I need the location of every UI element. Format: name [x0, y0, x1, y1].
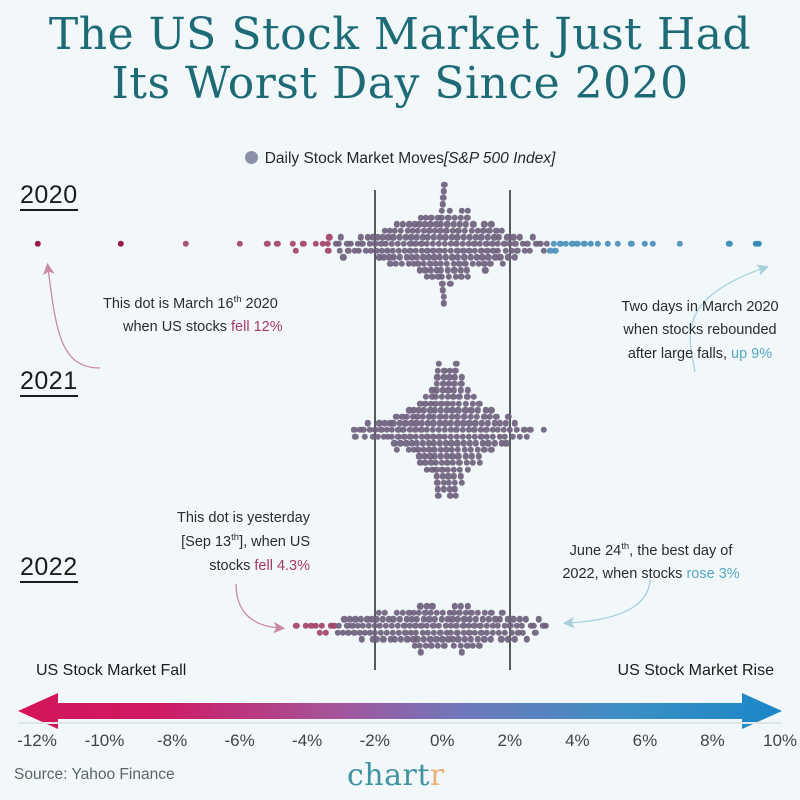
data-point: [523, 616, 529, 622]
data-point: [726, 241, 732, 247]
data-point: [497, 254, 503, 260]
data-point: [510, 616, 516, 622]
data-point: [312, 241, 318, 247]
anno-june24-line1-post: , the best day of: [629, 543, 732, 559]
page-title: The US Stock Market Just Had Its Worst D…: [0, 10, 800, 109]
data-point: [524, 636, 530, 642]
data-point: [469, 400, 475, 406]
axis-tick-minus8pct: -8%: [157, 731, 187, 751]
infographic-root: The US Stock Market Just Had Its Worst D…: [0, 0, 800, 800]
data-point: [274, 241, 280, 247]
data-point: [361, 433, 367, 439]
data-point: [513, 427, 519, 433]
data-point: [465, 208, 471, 214]
data-point: [352, 433, 358, 439]
data-point: [493, 414, 499, 420]
data-point: [581, 241, 587, 247]
data-point: [438, 267, 444, 273]
data-point: [464, 274, 470, 280]
axis-tick-minus12pct: -12%: [17, 731, 57, 751]
data-point: [469, 643, 475, 649]
data-point: [388, 427, 394, 433]
data-point: [390, 420, 396, 426]
data-point: [454, 414, 460, 420]
data-point: [452, 486, 458, 492]
legend-label: Daily Stock Market Moves: [265, 150, 444, 167]
data-point: [478, 234, 484, 240]
data-point: [446, 274, 452, 280]
chartr-logo-accent: r: [430, 758, 445, 793]
anno-march16-line1-pre: This dot is March 16: [103, 296, 234, 312]
data-point: [451, 473, 457, 479]
data-point: [463, 267, 469, 273]
data-point: [481, 447, 487, 453]
data-point: [510, 234, 516, 240]
data-point: [486, 414, 492, 420]
data-point: [476, 643, 482, 649]
data-point: [532, 629, 538, 635]
data-point: [435, 493, 441, 499]
data-point: [338, 234, 344, 240]
legend-index-note: [S&P 500 Index]: [444, 150, 555, 167]
data-point: [497, 616, 503, 622]
data-point: [439, 280, 445, 286]
anno-june24-line2-pre: 2022, when stocks: [562, 566, 686, 582]
axis-tick-labels: -12%-10%-8%-6%-4%-2%0%2%4%6%8%10%: [0, 731, 800, 757]
data-point: [509, 433, 515, 439]
data-point: [615, 241, 621, 247]
data-point: [456, 400, 462, 406]
data-point: [552, 247, 558, 253]
data-point: [458, 603, 464, 609]
data-point: [594, 241, 600, 247]
data-point: [439, 208, 445, 214]
data-point: [359, 636, 365, 642]
data-point: [512, 254, 518, 260]
data-point: [398, 228, 404, 234]
data-point: [488, 610, 494, 616]
data-point: [382, 610, 388, 616]
data-point: [461, 254, 467, 260]
data-point: [414, 636, 420, 642]
data-point: [485, 420, 491, 426]
data-point: [468, 447, 474, 453]
anno-yesterday-line1: This dot is yesterday: [150, 507, 310, 530]
data-point: [415, 610, 421, 616]
data-point: [464, 603, 470, 609]
data-point: [477, 460, 483, 466]
anno-march16-highlight: fell 12%: [231, 319, 283, 335]
anno-march16-line1-post: 2020: [242, 296, 278, 312]
data-point: [438, 214, 444, 220]
data-point: [451, 381, 457, 387]
axis-tick-minus2pct: -2%: [360, 731, 390, 751]
beeswarm-plot: [0, 170, 800, 690]
data-point: [650, 241, 656, 247]
data-point: [441, 643, 447, 649]
data-point: [453, 361, 459, 367]
data-point: [483, 427, 489, 433]
data-point: [336, 241, 342, 247]
data-point: [512, 636, 518, 642]
data-point: [453, 493, 459, 499]
data-point: [542, 623, 548, 629]
data-point: [455, 407, 461, 413]
data-point: [435, 361, 441, 367]
data-point: [494, 241, 500, 247]
data-point: [34, 241, 40, 247]
data-point: [461, 228, 467, 234]
data-point: [462, 261, 468, 267]
data-point: [488, 221, 494, 227]
data-point: [473, 440, 479, 446]
axis-tick-8pct: 8%: [700, 731, 725, 751]
data-point: [293, 623, 299, 629]
anno-rebound-line2: when stocks rebounded: [600, 319, 800, 342]
data-point: [487, 261, 493, 267]
data-point: [499, 610, 505, 616]
data-point: [459, 480, 465, 486]
data-point: [443, 228, 449, 234]
data-point: [326, 234, 332, 240]
axis-gradient-arrow: [0, 690, 800, 732]
data-point: [540, 247, 546, 253]
data-point: [499, 228, 505, 234]
anno-yesterday-highlight: fell 4.3%: [254, 558, 310, 574]
data-point: [465, 387, 471, 393]
axis-tick-6pct: 6%: [633, 731, 658, 751]
data-point: [456, 394, 462, 400]
data-point: [463, 221, 469, 227]
data-point: [323, 629, 329, 635]
data-point: [439, 201, 445, 207]
data-point: [456, 460, 462, 466]
data-point: [486, 228, 492, 234]
data-point: [524, 433, 530, 439]
axis-tick-0pct: 0%: [430, 731, 455, 751]
data-point: [397, 254, 403, 260]
data-point: [340, 254, 346, 260]
data-point: [444, 261, 450, 267]
data-point: [457, 643, 463, 649]
data-point: [455, 453, 461, 459]
data-point: [399, 261, 405, 267]
anno-rebound-line1: Two days in March 2020: [600, 296, 800, 319]
data-point: [300, 241, 306, 247]
data-point: [440, 610, 446, 616]
data-point: [442, 254, 448, 260]
data-point: [485, 254, 491, 260]
axis-baseline: [18, 722, 782, 724]
data-point: [517, 433, 523, 439]
data-point: [520, 629, 526, 635]
anno-june24-ordinal: th: [621, 541, 629, 552]
data-point: [491, 440, 497, 446]
data-point: [414, 616, 420, 622]
axis-tick-minus6pct: -6%: [225, 731, 255, 751]
data-point: [453, 623, 459, 629]
data-point: [357, 234, 363, 240]
data-point: [470, 221, 476, 227]
data-point: [118, 241, 124, 247]
data-point: [441, 300, 447, 306]
data-point: [292, 247, 298, 253]
data-point: [475, 610, 481, 616]
data-point: [500, 261, 506, 267]
data-point: [390, 234, 396, 240]
data-point: [365, 420, 371, 426]
circle-icon: [245, 151, 258, 164]
data-point: [502, 433, 508, 439]
data-point: [463, 400, 469, 406]
axis-tick-4pct: 4%: [565, 731, 590, 751]
data-point: [441, 181, 447, 187]
data-point: [495, 247, 501, 253]
data-point: [475, 636, 481, 642]
data-point: [357, 616, 363, 622]
data-point: [397, 616, 403, 622]
anno-yesterday-line2-post: ], when US: [239, 534, 310, 550]
axis-tick-minus4pct: -4%: [292, 731, 322, 751]
data-point: [540, 427, 546, 433]
data-point: [530, 623, 536, 629]
data-point: [537, 241, 543, 247]
data-point: [464, 214, 470, 220]
data-point: [544, 241, 550, 247]
data-point: [481, 221, 487, 227]
data-point: [498, 636, 504, 642]
data-point: [413, 629, 419, 635]
data-point: [434, 374, 440, 380]
axis-tick-10pct: 10%: [763, 731, 797, 751]
data-point: [236, 241, 242, 247]
title-line-1: The US Stock Market Just Had: [0, 10, 800, 59]
data-point: [488, 636, 494, 642]
anno-rebound-highlight: up 9%: [731, 346, 772, 362]
data-point: [518, 623, 524, 629]
data-point: [470, 394, 476, 400]
anno-yesterday-line2: [Sep 13: [181, 534, 231, 550]
annotation-sep-13-2022: This dot is yesterday [Sep 13th], when U…: [150, 507, 310, 578]
data-point: [535, 616, 541, 622]
data-point: [473, 616, 479, 622]
data-point: [447, 280, 453, 286]
data-point: [437, 221, 443, 227]
data-point: [458, 381, 464, 387]
anno-rebound-line3-pre: after large falls,: [628, 346, 731, 362]
data-point: [527, 247, 533, 253]
anno-june24-line1-pre: June 24: [570, 543, 622, 559]
data-point: [494, 623, 500, 629]
data-point: [182, 241, 188, 247]
data-point: [475, 407, 481, 413]
chartr-logo-main: chart: [347, 758, 430, 793]
title-line-2: Its Worst Day Since 2020: [0, 59, 800, 108]
data-point: [429, 603, 435, 609]
data-point: [417, 649, 423, 655]
anno-yesterday-ordinal: th: [231, 532, 239, 543]
data-point: [440, 294, 446, 300]
data-point: [264, 241, 270, 247]
axis-tick-2pct: 2%: [498, 731, 523, 751]
data-point: [524, 241, 530, 247]
data-point: [446, 208, 452, 214]
data-point: [432, 616, 438, 622]
axis-tick-minus10pct: -10%: [85, 731, 125, 751]
data-point: [514, 247, 520, 253]
data-point: [390, 616, 396, 622]
data-point: [440, 287, 446, 293]
data-point: [459, 374, 465, 380]
axis-caption-fall: US Stock Market Fall: [36, 662, 186, 680]
data-point: [605, 241, 611, 247]
data-point: [503, 420, 509, 426]
data-point: [440, 195, 446, 201]
annotation-june-24-2022: June 24th, the best day of 2022, when st…: [546, 539, 756, 587]
data-point: [325, 247, 331, 253]
data-point: [452, 480, 458, 486]
data-point: [469, 453, 475, 459]
source-note: Source: Yahoo Finance: [14, 766, 175, 784]
data-point: [464, 466, 470, 472]
data-point: [475, 447, 481, 453]
data-point: [469, 460, 475, 466]
data-point: [438, 274, 444, 280]
data-point: [476, 400, 482, 406]
chartr-logo: chartr: [347, 758, 445, 793]
data-point: [676, 241, 682, 247]
data-point: [490, 433, 496, 439]
data-point: [476, 453, 482, 459]
data-point: [359, 241, 365, 247]
data-point: [336, 623, 342, 629]
data-point: [588, 241, 594, 247]
data-point: [444, 267, 450, 273]
data-point: [355, 247, 361, 253]
data-point: [319, 623, 325, 629]
data-point: [325, 241, 331, 247]
data-point: [444, 221, 450, 227]
anno-march16-line2-pre: when US stocks: [123, 319, 231, 335]
data-point: [336, 247, 342, 253]
data-point: [512, 241, 518, 247]
data-point: [436, 623, 442, 629]
data-point: [468, 636, 474, 642]
data-point: [512, 420, 518, 426]
data-point: [628, 241, 634, 247]
anno-yesterday-line3-pre: stocks: [209, 558, 254, 574]
data-point: [452, 367, 458, 373]
data-point: [445, 214, 451, 220]
data-point: [458, 473, 464, 479]
data-point: [455, 447, 461, 453]
legend: Daily Stock Market Moves[S&P 500 Index]: [0, 150, 800, 168]
data-point: [452, 374, 458, 380]
axis-caption-rise: US Stock Market Rise: [618, 662, 774, 680]
data-point: [457, 466, 463, 472]
data-point: [756, 241, 762, 247]
data-point: [488, 447, 494, 453]
anno-march16-ordinal: th: [234, 294, 242, 305]
data-point: [517, 234, 523, 240]
data-point: [474, 414, 480, 420]
data-point: [574, 241, 580, 247]
annotation-march-16-2020: This dot is March 16th 2020 when US stoc…: [103, 292, 373, 340]
data-point: [380, 636, 386, 642]
data-point: [456, 610, 462, 616]
anno-june24-highlight: rose 3%: [686, 566, 739, 582]
data-point: [290, 241, 296, 247]
data-point: [482, 267, 488, 273]
data-point: [488, 407, 494, 413]
data-point: [348, 241, 354, 247]
data-point: [496, 234, 502, 240]
data-point: [393, 447, 399, 453]
data-point: [527, 427, 533, 433]
data-point: [437, 629, 443, 635]
annotation-rebound-march-2020: Two days in March 2020 when stocks rebou…: [600, 296, 800, 366]
data-point: [441, 188, 447, 194]
data-point: [530, 234, 536, 240]
data-point: [508, 629, 514, 635]
data-point: [459, 649, 465, 655]
data-point: [434, 643, 440, 649]
data-point: [642, 241, 648, 247]
data-point: [457, 387, 463, 393]
data-point: [551, 241, 557, 247]
data-point: [507, 427, 513, 433]
